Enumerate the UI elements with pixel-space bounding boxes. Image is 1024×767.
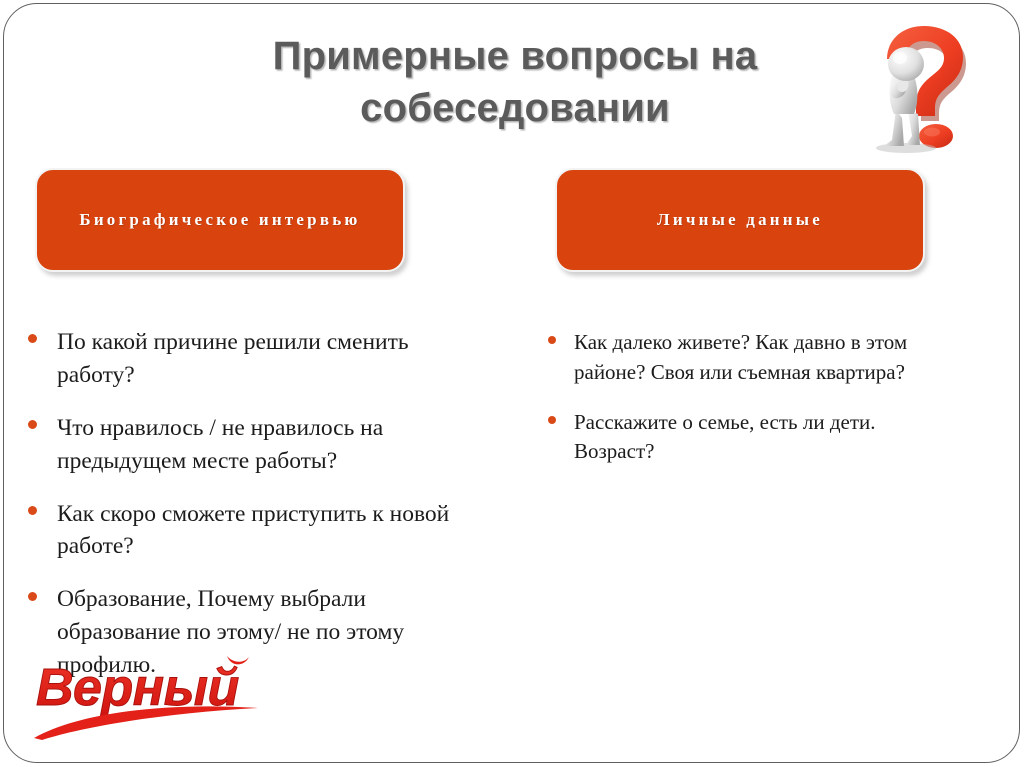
list-item-text: По какой причине решили сменить работу? (57, 326, 488, 392)
bullet-list-biographical: По какой причине решили сменить работу? … (28, 326, 488, 702)
list-item-text: Что нравилось / не нравилось на предыдущ… (57, 412, 488, 478)
list-item-text: Расскажите о семье, есть ли дети. Возрас… (574, 408, 948, 468)
page-title: Примерные вопросы на собеседовании (150, 30, 880, 134)
list-item-text: Как скоро сможете приступить к новой раб… (57, 498, 488, 564)
list-item: Расскажите о семье, есть ли дети. Возрас… (548, 408, 948, 468)
bullet-dot-icon (548, 336, 556, 344)
verny-supermarket-logo: Верный (30, 650, 280, 742)
question-mark-with-thinking-figure-icon (862, 14, 990, 154)
list-item: По какой причине решили сменить работу? (28, 326, 488, 392)
bullet-dot-icon (28, 334, 37, 343)
presentation-slide: Примерные вопросы на собеседовании (0, 0, 1024, 767)
list-item: Что нравилось / не нравилось на предыдущ… (28, 412, 488, 478)
section-header-label: Личные данные (643, 206, 837, 234)
list-item: Как далеко живете? Как давно в этом райо… (548, 328, 948, 388)
bullet-dot-icon (548, 416, 556, 424)
section-header-label: Биографическое интервью (65, 206, 374, 234)
bullet-dot-icon (28, 420, 37, 429)
list-item-text: Как далеко живете? Как давно в этом райо… (574, 328, 948, 388)
section-header-box-biographical[interactable]: Биографическое интервью (35, 168, 405, 272)
list-item: Как скоро сможете приступить к новой раб… (28, 498, 488, 564)
bullet-list-personal: Как далеко живете? Как давно в этом райо… (548, 328, 948, 487)
bullet-dot-icon (28, 592, 37, 601)
section-header-box-personal[interactable]: Личные данные (555, 168, 925, 272)
bullet-dot-icon (28, 506, 37, 515)
